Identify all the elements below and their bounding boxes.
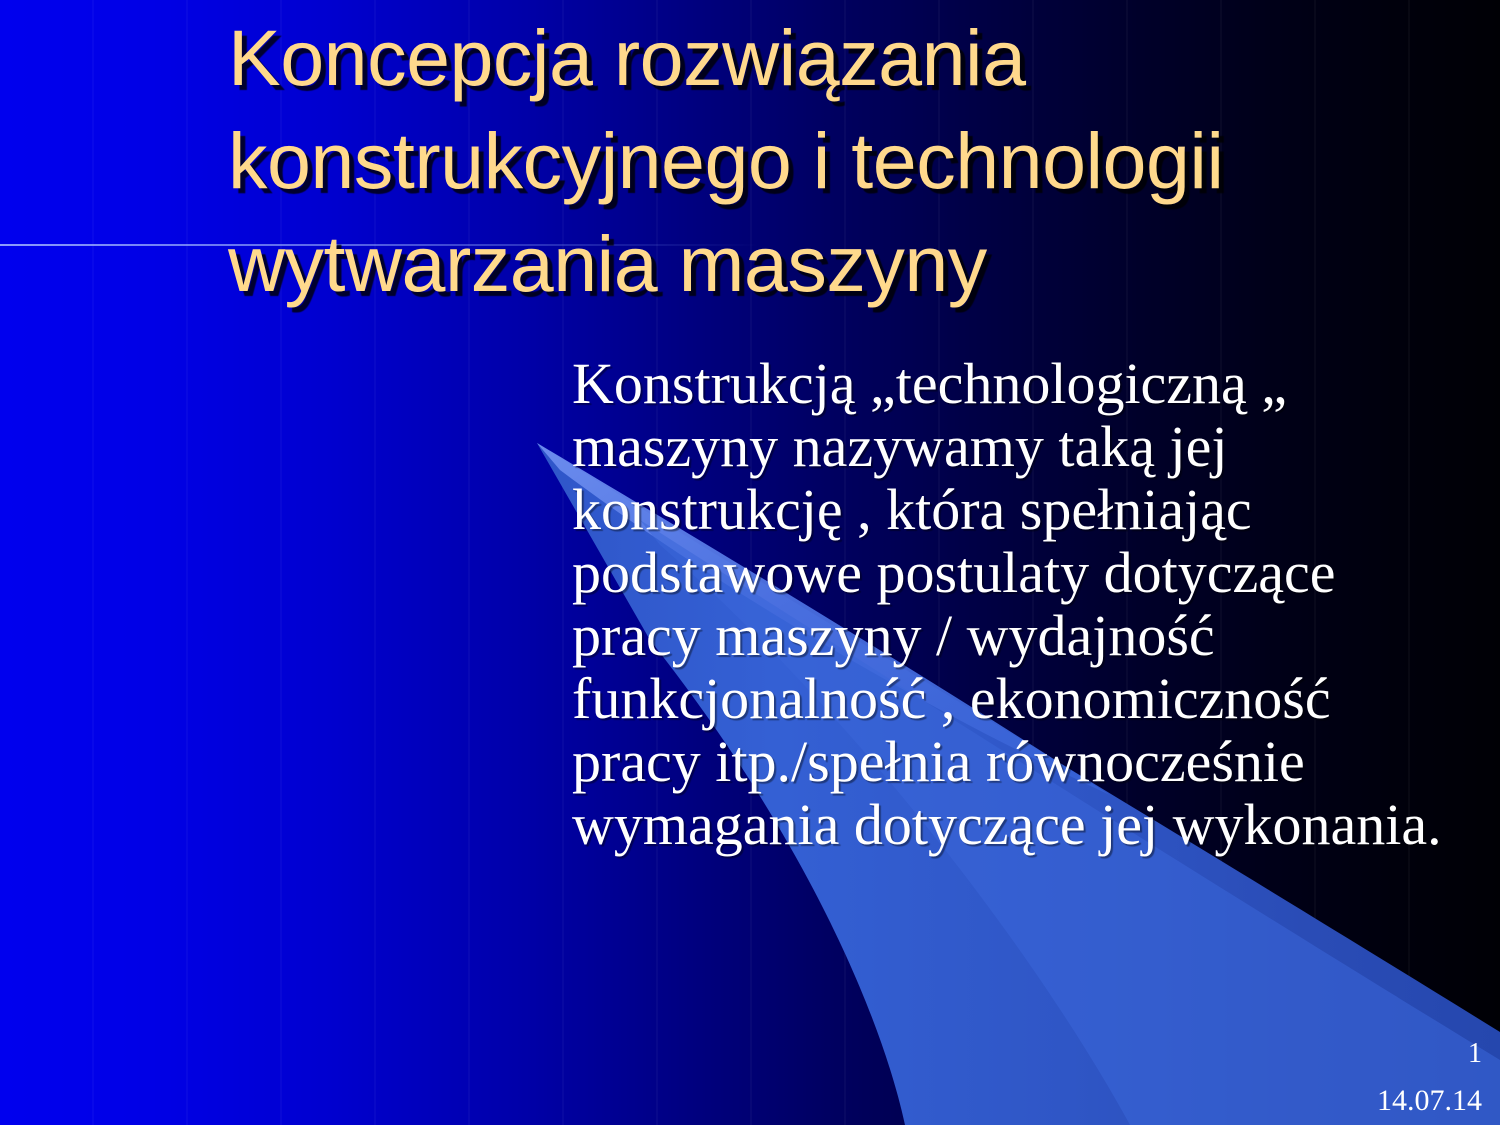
slide-number: 1: [1468, 1038, 1482, 1070]
slide-title: Koncepcja rozwiązania konstrukcyjnego i …: [228, 6, 1338, 315]
slide-body-text: Konstrukcją „technologiczną „ maszyny na…: [572, 352, 1472, 856]
slide-date: 14.07.14: [1377, 1084, 1482, 1118]
presentation-slide: Koncepcja rozwiązania konstrukcyjnego i …: [0, 0, 1500, 1125]
